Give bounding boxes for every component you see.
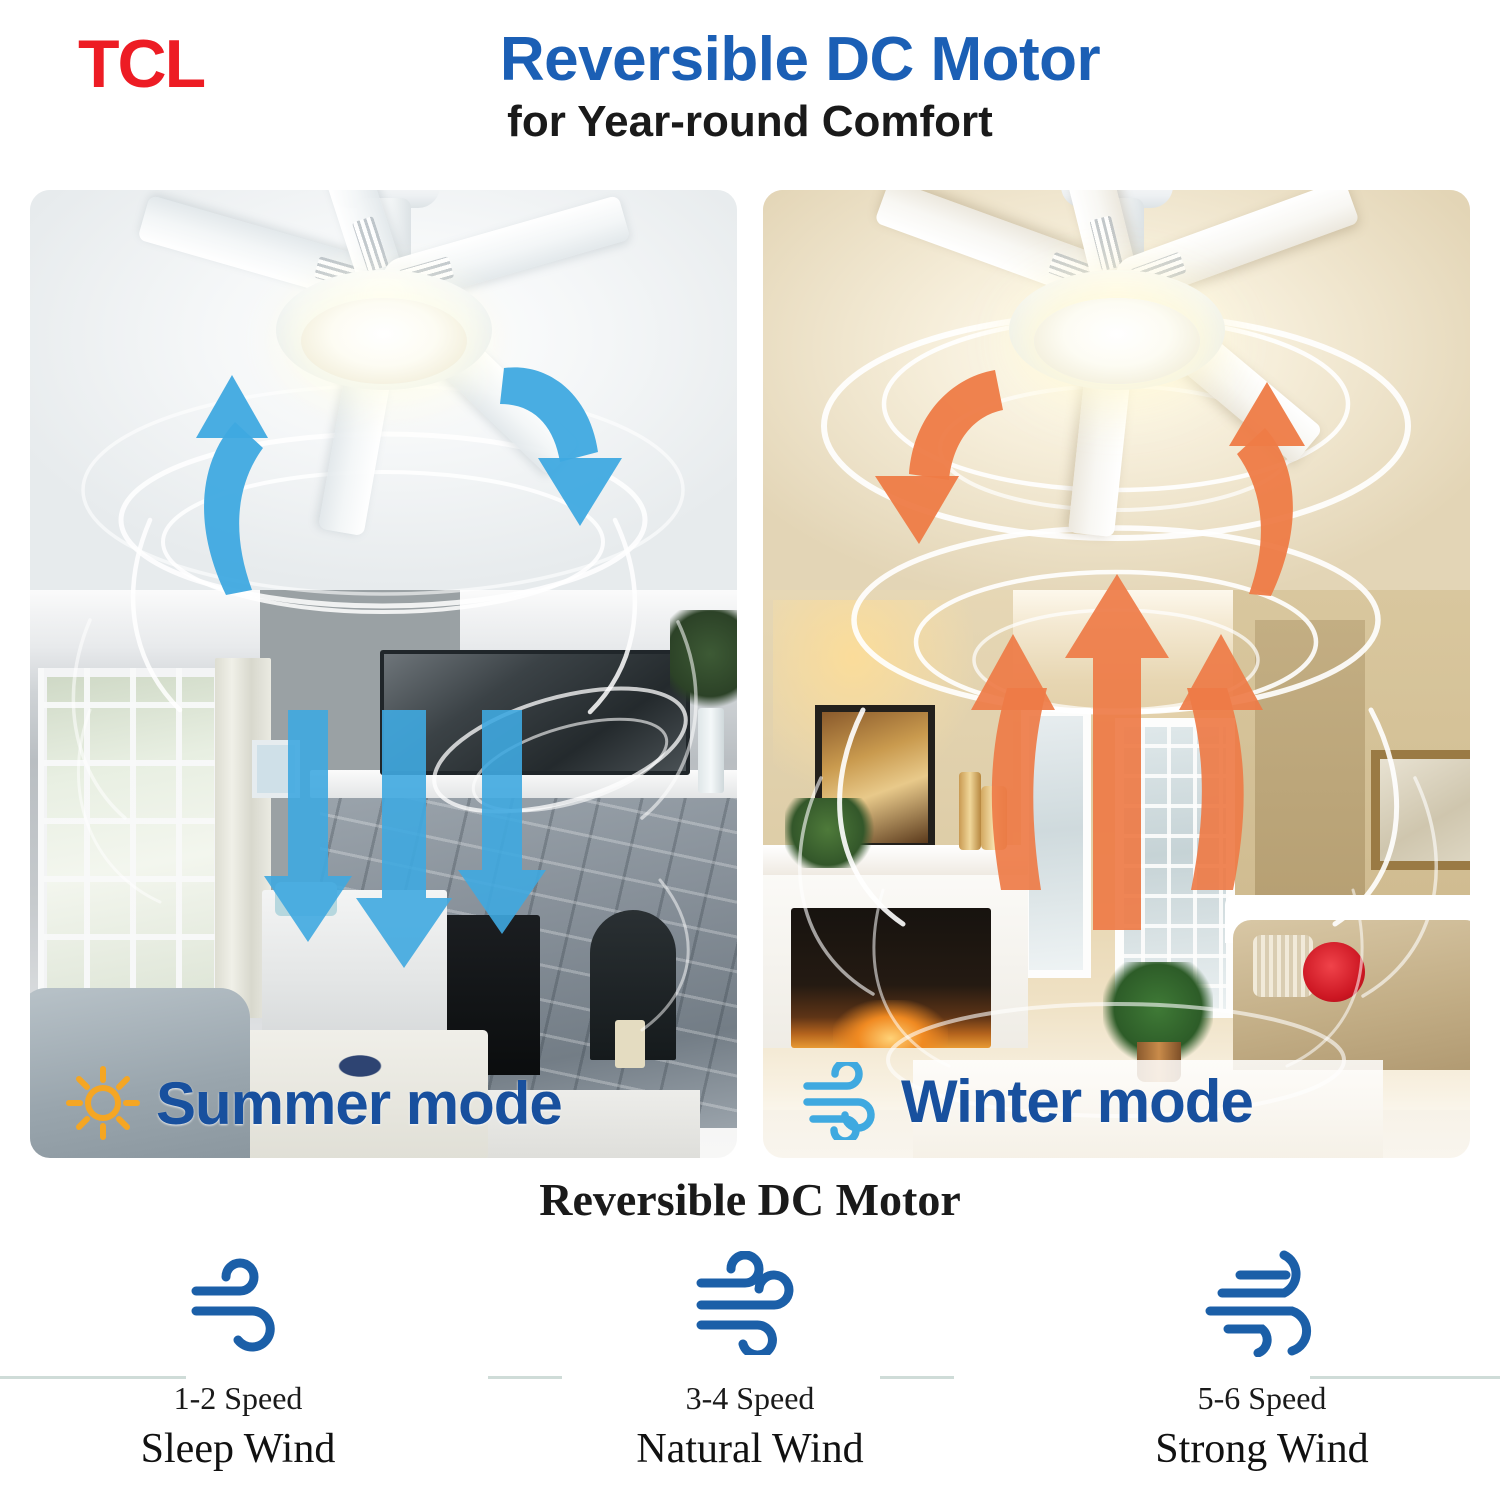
summer-mode-panel: Summer mode: [30, 190, 737, 1158]
speed-modes-section: Reversible DC Motor 1-2 Speed Sleep Wind: [0, 1175, 1500, 1500]
feature-sleep-wind: 1-2 Speed Sleep Wind: [88, 1248, 388, 1473]
feature-icon-wrap: [182, 1248, 294, 1358]
wind-strong-icon: [1200, 1249, 1324, 1357]
mode-comparison: Summer mode: [0, 190, 1500, 1160]
vase: [698, 708, 724, 793]
section-title: Reversible DC Motor: [0, 1175, 1500, 1226]
mantle-plant: [785, 798, 880, 868]
speed-feature-list: 1-2 Speed Sleep Wind 3-4 Speed Natural W…: [0, 1248, 1500, 1473]
wind-medium-icon: [691, 1251, 809, 1355]
candle: [615, 1020, 645, 1068]
fan-led-light: [1034, 298, 1200, 384]
winter-mode-text: Winter mode: [901, 1067, 1253, 1136]
feature-name: Natural Wind: [636, 1425, 863, 1473]
feature-strong-wind: 5-6 Speed Strong Wind: [1112, 1248, 1412, 1473]
window-left: [1021, 708, 1091, 978]
feature-icon-wrap: [691, 1248, 809, 1358]
wind-light-icon: [182, 1251, 294, 1355]
feature-speed: 3-4 Speed: [686, 1380, 815, 1417]
page-subtitle: for Year-round Comfort: [0, 98, 1500, 146]
feature-icon-wrap: [1200, 1248, 1324, 1358]
feature-name: Sleep Wind: [141, 1425, 336, 1473]
wall-art: [252, 740, 300, 798]
separator-line: [0, 1376, 186, 1379]
sun-icon: [66, 1066, 140, 1140]
red-pillow: [1303, 942, 1365, 1002]
feature-name: Strong Wind: [1155, 1425, 1368, 1473]
seat-pillow: [275, 882, 337, 916]
fire-flame: [833, 1000, 948, 1048]
feature-speed: 5-6 Speed: [1198, 1380, 1327, 1417]
page-header: TCL Reversible DC Motor for Year-round C…: [0, 0, 1500, 170]
vase: [959, 772, 981, 850]
winter-mode-label: Winter mode: [763, 1062, 1253, 1140]
fan-led-light: [301, 298, 467, 384]
wall-tv: [380, 650, 690, 775]
summer-mode-text: Summer mode: [156, 1069, 562, 1138]
wind-icon: [799, 1062, 885, 1140]
separator-line: [880, 1376, 954, 1379]
plant: [670, 610, 737, 720]
winter-mode-panel: Winter mode: [763, 190, 1470, 1158]
window-mullions: [38, 668, 223, 998]
framed-wall-art: [1371, 750, 1470, 870]
separator-line: [1310, 1376, 1500, 1379]
separator-line: [488, 1376, 562, 1379]
feature-speed: 1-2 Speed: [174, 1380, 303, 1417]
summer-mode-label: Summer mode: [30, 1066, 562, 1140]
feature-natural-wind: 3-4 Speed Natural Wind: [600, 1248, 900, 1473]
page-title: Reversible DC Motor: [0, 27, 1500, 92]
vase: [981, 786, 1007, 850]
